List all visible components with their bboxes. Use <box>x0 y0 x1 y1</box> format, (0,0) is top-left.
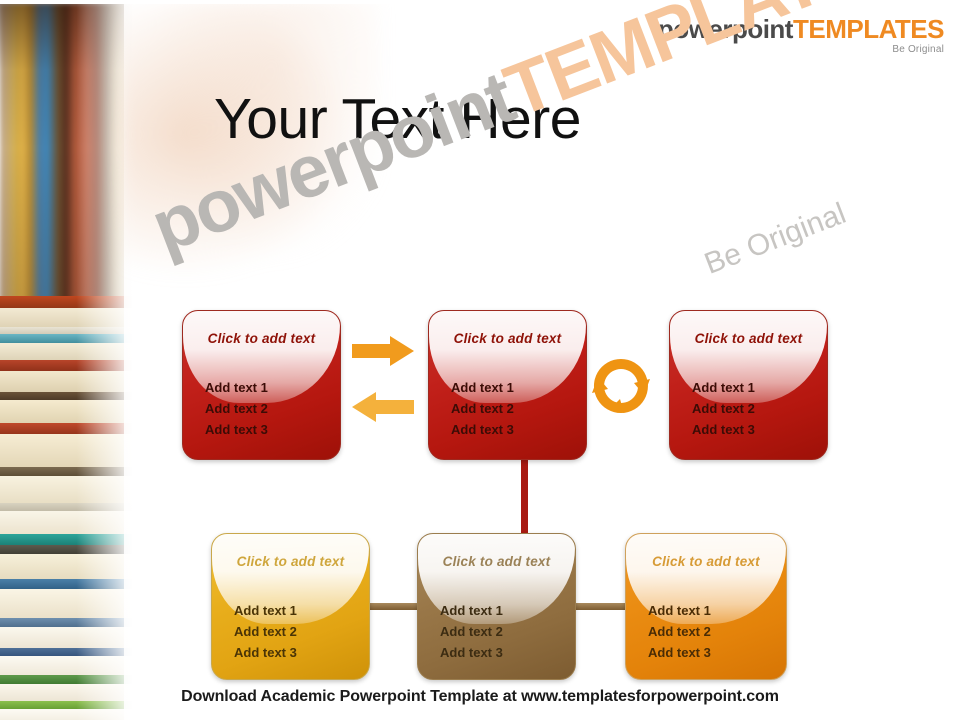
box-heading[interactable]: Click to add text <box>670 331 827 346</box>
box-item[interactable]: Add text 1 <box>692 377 755 398</box>
arrow-left-icon <box>352 392 414 422</box>
slide-title[interactable]: Your Text Here <box>214 86 581 152</box>
box-item[interactable]: Add text 2 <box>648 621 711 642</box>
diagram-box-brown[interactable]: Click to add text Add text 1 Add text 2 … <box>417 533 576 680</box>
box-item[interactable]: Add text 1 <box>440 600 503 621</box>
box-item[interactable]: Add text 2 <box>692 398 755 419</box>
box-item[interactable]: Add text 3 <box>234 642 297 663</box>
box-items[interactable]: Add text 1 Add text 2 Add text 3 <box>648 600 711 663</box>
box-item[interactable]: Add text 3 <box>451 419 514 440</box>
box-item[interactable]: Add text 1 <box>648 600 711 621</box>
brand-tagline: Be Original <box>658 45 944 55</box>
slide-top-margin <box>0 0 960 4</box>
box-item[interactable]: Add text 3 <box>648 642 711 663</box>
brand-logo: powerpointTEMPLATES Be Original <box>658 16 944 55</box>
recycle-cycle-icon <box>590 355 652 417</box>
box-item[interactable]: Add text 2 <box>234 621 297 642</box>
box-items[interactable]: Add text 1 Add text 2 Add text 3 <box>440 600 503 663</box>
watermark-tagline: Be Original <box>700 197 851 282</box>
box-heading[interactable]: Click to add text <box>418 554 575 569</box>
slide-canvas: powerpointTEMPLATES Be Original Your Tex… <box>0 0 960 720</box>
box-items[interactable]: Add text 1 Add text 2 Add text 3 <box>205 377 268 440</box>
books-photo-band <box>0 4 132 720</box>
connector-vertical-red <box>521 452 528 538</box>
box-item[interactable]: Add text 2 <box>451 398 514 419</box>
arrow-right-icon <box>352 336 414 366</box>
footer-download-text: Download Academic Powerpoint Template at… <box>0 688 960 706</box>
photo-fade-overlay <box>0 4 132 720</box>
diagram-box-gold[interactable]: Click to add text Add text 1 Add text 2 … <box>211 533 370 680</box>
box-item[interactable]: Add text 1 <box>205 377 268 398</box>
brand-name-powerpoint: powerpoint <box>658 14 793 44</box>
box-heading[interactable]: Click to add text <box>626 554 786 569</box>
box-items[interactable]: Add text 1 Add text 2 Add text 3 <box>692 377 755 440</box>
brand-name-templates: TEMPLATES <box>793 14 944 44</box>
diagram-box-red-2[interactable]: Click to add text Add text 1 Add text 2 … <box>428 310 587 460</box>
box-item[interactable]: Add text 3 <box>692 419 755 440</box>
box-heading[interactable]: Click to add text <box>429 331 586 346</box>
box-item[interactable]: Add text 2 <box>205 398 268 419</box>
diagram-box-red-1[interactable]: Click to add text Add text 1 Add text 2 … <box>182 310 341 460</box>
box-items[interactable]: Add text 1 Add text 2 Add text 3 <box>451 377 514 440</box>
box-heading[interactable]: Click to add text <box>212 554 369 569</box>
box-item[interactable]: Add text 1 <box>234 600 297 621</box>
box-item[interactable]: Add text 3 <box>205 419 268 440</box>
box-item[interactable]: Add text 1 <box>451 377 514 398</box>
box-item[interactable]: Add text 3 <box>440 642 503 663</box>
box-item[interactable]: Add text 2 <box>440 621 503 642</box>
box-items[interactable]: Add text 1 Add text 2 Add text 3 <box>234 600 297 663</box>
diagram-box-red-3[interactable]: Click to add text Add text 1 Add text 2 … <box>669 310 828 460</box>
box-heading[interactable]: Click to add text <box>183 331 340 346</box>
diagram-box-orange[interactable]: Click to add text Add text 1 Add text 2 … <box>625 533 787 680</box>
